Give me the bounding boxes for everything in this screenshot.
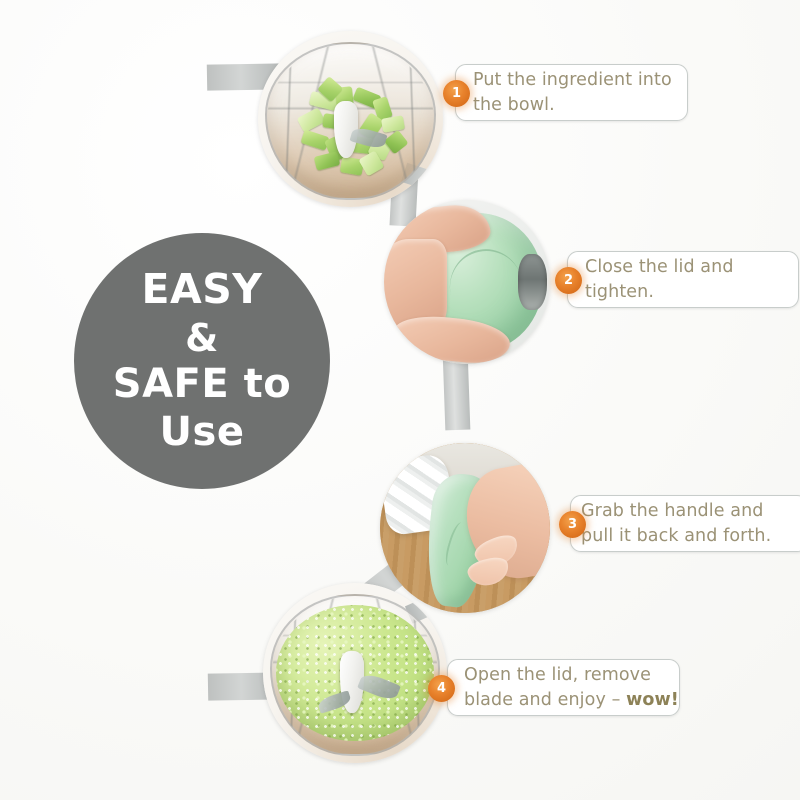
step-number-badge-1: 1 — [443, 80, 470, 107]
callout-1-box — [455, 64, 688, 121]
callout-4-box — [447, 659, 680, 716]
headline-line-3: SAFE to — [113, 362, 291, 408]
callout-2-box — [567, 251, 799, 308]
callout-4-text: Open the lid, remove blade and enjoy – w… — [464, 663, 682, 714]
photo2-lid-grip — [518, 254, 546, 310]
callout-1-text: Put the ingredient into the bowl. — [473, 68, 688, 119]
infographic-stage: EASY & SAFE to Use — [0, 0, 800, 800]
callout-4-emphasis: wow! — [626, 690, 679, 710]
callout-3-text: Grab the handle and pull it back and for… — [581, 499, 800, 550]
headline-line-2: & — [185, 317, 219, 360]
callout-3-box — [570, 495, 800, 552]
step-photo-2 — [384, 200, 550, 364]
step-photo-1 — [258, 31, 443, 207]
photo3-handle-seam — [442, 520, 468, 567]
step-photo-4 — [263, 583, 447, 763]
step-number-badge-2: 2 — [555, 267, 582, 294]
headline-circle: EASY & SAFE to Use — [74, 233, 330, 489]
headline-line-4: Use — [160, 410, 245, 456]
headline-line-1: EASY — [142, 266, 263, 313]
callout-4-text-main: Open the lid, remove blade and enjoy – — [464, 665, 651, 710]
callout-2-text: Close the lid and tighten. — [585, 255, 795, 306]
step-number-badge-3: 3 — [559, 511, 586, 538]
